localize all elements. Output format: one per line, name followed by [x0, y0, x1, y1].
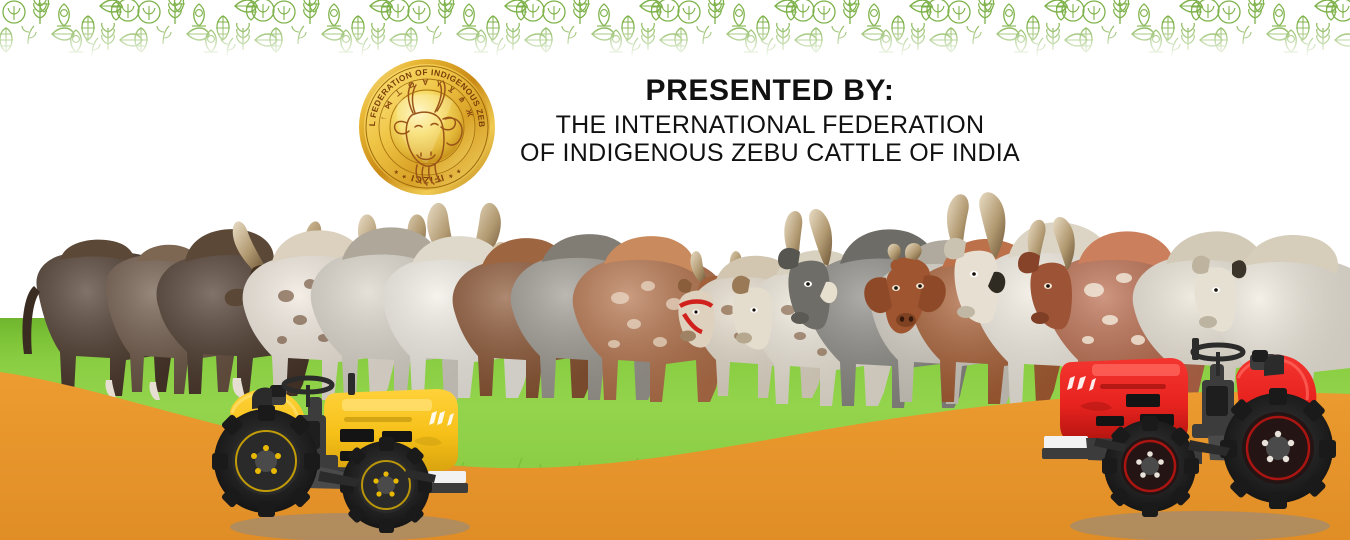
botanical-pattern-icon	[0, 0, 1350, 58]
ifizci-emblem-logo: THE INTERNATIONAL FEDERATION OF INDIGENO…	[357, 57, 497, 197]
organization-name-line-2: OF INDIGENOUS ZEBU CATTLE OF INDIA	[515, 141, 1025, 167]
tractor-wheel	[1220, 388, 1336, 509]
tractor-wheel	[212, 405, 320, 517]
presented-by-label: PRESENTED BY:	[515, 76, 1025, 107]
promotional-banner: THE INTERNATIONAL FEDERATION OF INDIGENO…	[0, 0, 1350, 540]
organization-name-line-1: THE INTERNATIONAL FEDERATION	[515, 113, 1025, 139]
tractor-wheel	[1102, 416, 1199, 517]
red-compact-tractor	[1040, 330, 1350, 540]
yellow-compact-tractor	[200, 355, 500, 540]
headline-block: PRESENTED BY: THE INTERNATIONAL FEDERATI…	[515, 76, 1025, 167]
